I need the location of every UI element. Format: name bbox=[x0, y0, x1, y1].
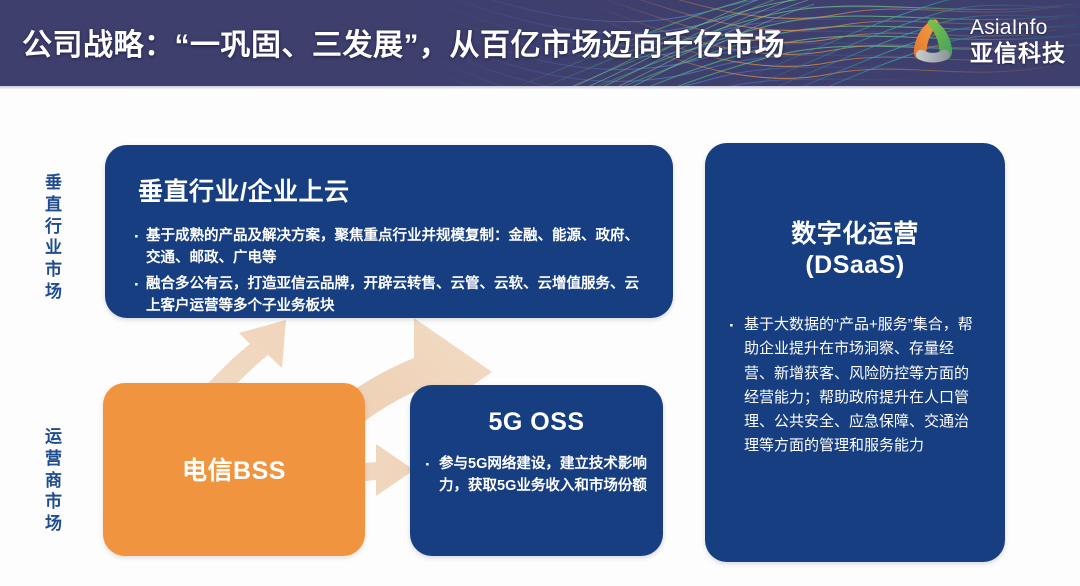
side-label-operator-market: 运营商市场 bbox=[41, 426, 67, 535]
card-title-vertical-industry-cloud: 垂直行业/企业上云 bbox=[138, 172, 673, 208]
logo-chinese-name: 亚信科技 bbox=[970, 42, 1066, 65]
logo-text-block: AsiaInfo 亚信科技 bbox=[970, 17, 1066, 65]
logo-english-name: AsiaInfo bbox=[970, 17, 1066, 38]
slide-header: 公司战略：“一巩固、三发展”，从百亿市场迈向千亿市场 bbox=[0, 0, 1080, 86]
bullet-item: 基于大数据的“产品+服务”集合，帮助企业提升在市场洞察、存量经营、新增获客、风险… bbox=[727, 313, 983, 459]
asiainfo-logo: AsiaInfo 亚信科技 bbox=[905, 13, 1066, 69]
bullet-list-5g-oss: 参与5G网络建设，建立技术影响力，获取5G业务收入和市场份额 bbox=[424, 453, 651, 498]
card-title-5g-oss: 5G OSS bbox=[410, 408, 663, 437]
page-title: 公司战略：“一巩固、三发展”，从百亿市场迈向千亿市场 bbox=[22, 20, 785, 64]
card-digital-operations-dsaas[interactable]: 数字化运营 (DSaaS) 基于大数据的“产品+服务”集合，帮助企业提升在市场洞… bbox=[705, 143, 1005, 562]
side-label-vertical-market: 垂直行业市场 bbox=[41, 172, 67, 303]
bullet-list-vertical-industry-cloud: 基于成熟的产品及解决方案，聚焦重点行业并规模复制：金融、能源、政府、交通、邮政、… bbox=[133, 225, 647, 318]
card-5g-oss[interactable]: 5G OSS 参与5G网络建设，建立技术影响力，获取5G业务收入和市场份额 bbox=[410, 385, 663, 556]
bullet-list-dsaas: 基于大数据的“产品+服务”集合，帮助企业提升在市场洞察、存量经营、新增获客、风险… bbox=[727, 313, 983, 459]
card-telecom-bss[interactable]: 电信BSS bbox=[103, 383, 365, 556]
card-title-telecom-bss: 电信BSS bbox=[103, 451, 365, 487]
slide-canvas: 公司战略：“一巩固、三发展”，从百亿市场迈向千亿市场 bbox=[0, 0, 1080, 586]
bullet-item: 基于成熟的产品及解决方案，聚焦重点行业并规模复制：金融、能源、政府、交通、邮政、… bbox=[133, 225, 647, 270]
bullet-item: 参与5G网络建设，建立技术影响力，获取5G业务收入和市场份额 bbox=[424, 453, 651, 498]
bullet-item: 融合多公有云，打造亚信云品牌，开辟云转售、云管、云软、云增值服务、云上客户运营等… bbox=[133, 273, 647, 318]
card-title-digital-operations: 数字化运营 bbox=[705, 218, 1005, 251]
asiainfo-triangle-icon bbox=[905, 13, 961, 69]
header-divider bbox=[0, 86, 1080, 89]
card-vertical-industry-cloud[interactable]: 垂直行业/企业上云 基于成熟的产品及解决方案，聚焦重点行业并规模复制：金融、能源… bbox=[105, 145, 673, 318]
card-subtitle-dsaas: (DSaaS) bbox=[705, 251, 1005, 280]
